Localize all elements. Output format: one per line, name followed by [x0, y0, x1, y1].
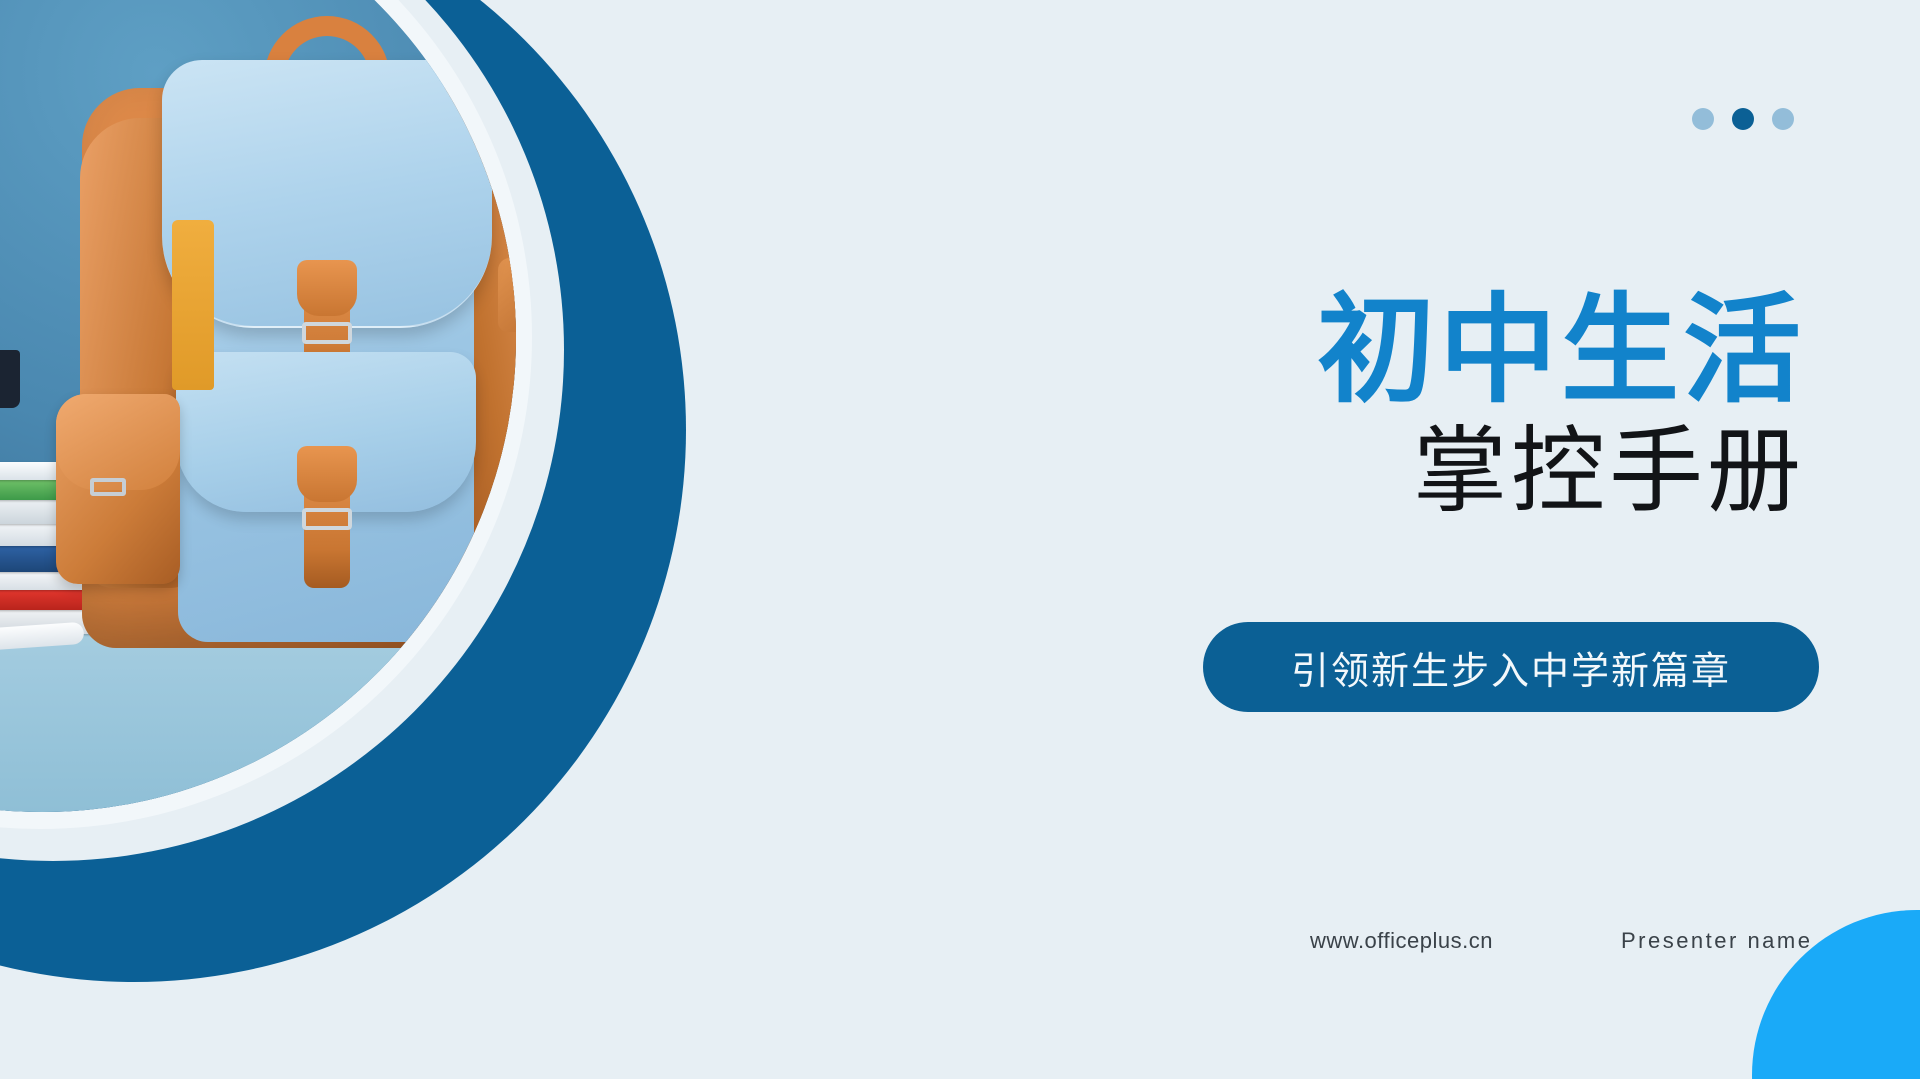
page-subtitle: 掌控手册 — [900, 419, 1805, 524]
pencil-cup — [0, 350, 20, 408]
inner-white-rim — [0, 0, 532, 829]
backpack-top-flap — [162, 60, 492, 328]
backpack-front-panel — [178, 172, 474, 642]
backpack-buckle — [302, 508, 352, 530]
book-stack — [0, 384, 193, 634]
backpack-buckle — [302, 322, 352, 344]
book — [0, 478, 168, 500]
book — [0, 544, 170, 572]
backpack-side-pocket-flap — [56, 394, 180, 490]
backpack-body — [82, 88, 516, 648]
backpack-buckle-tab — [297, 260, 357, 316]
book — [0, 588, 170, 610]
crayon — [0, 622, 85, 657]
title-slide: 初中生活 掌控手册 引领新生步入中学新篇章 www.officeplus.cn … — [0, 0, 1920, 1079]
book — [0, 608, 173, 634]
ring-background-gap — [0, 0, 564, 861]
book — [0, 522, 172, 546]
tagline-pill[interactable]: 引领新生步入中学新篇章 — [1203, 622, 1819, 712]
backpack — [50, 22, 516, 662]
backpack-pocket-flap — [176, 352, 476, 512]
side-accessory-pocket — [498, 258, 516, 332]
title-block: 初中生活 掌控手册 — [900, 288, 1805, 524]
backpack-left-gusset — [80, 118, 200, 588]
book — [0, 462, 168, 480]
backpack-side-pocket — [56, 394, 180, 584]
indicator-dot-2[interactable] — [1732, 108, 1754, 130]
footer: www.officeplus.cn Presenter name — [1310, 928, 1830, 954]
indicator-dot-3[interactable] — [1772, 108, 1794, 130]
backpack-strap — [304, 272, 350, 404]
backpack-label-tag — [172, 220, 214, 390]
book — [0, 498, 168, 524]
decorative-ring-group — [0, 0, 920, 1079]
tagline-text: 引领新生步入中学新篇章 — [1291, 640, 1731, 695]
hero-image-circle — [0, 0, 516, 812]
desk-surface — [0, 602, 516, 812]
footer-website[interactable]: www.officeplus.cn — [1310, 928, 1493, 954]
backpack-strap — [304, 460, 350, 588]
backpack-handle — [264, 16, 390, 112]
book — [0, 570, 172, 590]
backpack-side-buckle — [90, 478, 126, 496]
hero-image — [0, 0, 516, 812]
backpack-buckle-tab — [297, 446, 357, 502]
indicator-dot-1[interactable] — [1692, 108, 1714, 130]
page-title: 初中生活 — [900, 288, 1805, 413]
slide-indicator-dots — [1692, 108, 1794, 130]
footer-presenter-name: Presenter name — [1621, 928, 1813, 954]
backpack-right-gusset — [450, 142, 516, 572]
outer-blue-ring — [0, 0, 686, 982]
pencil-accessory — [511, 207, 516, 273]
